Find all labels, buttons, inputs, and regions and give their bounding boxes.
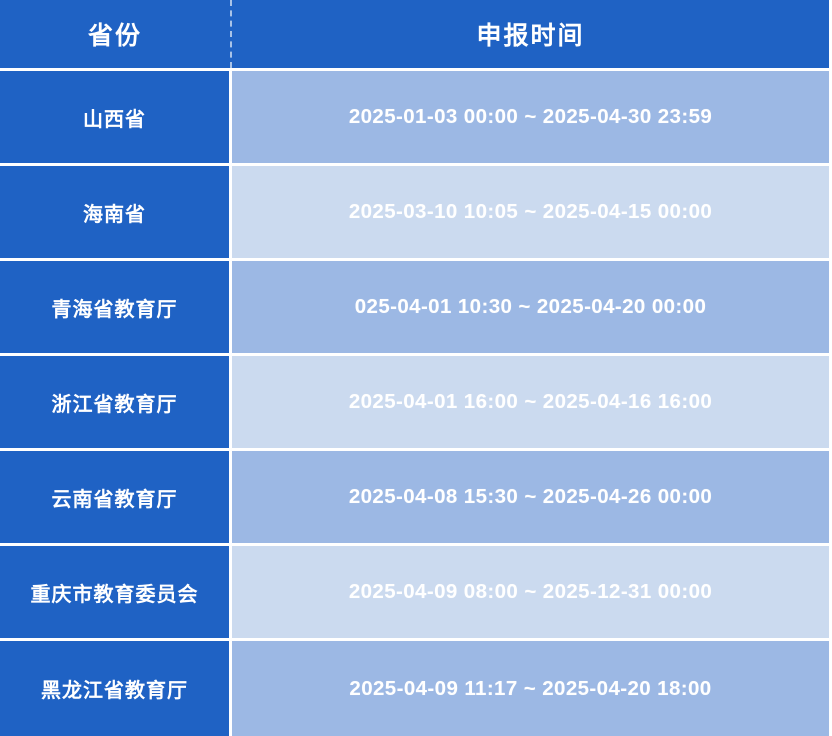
table-row: 山西省 2025-01-03 00:00 ~ 2025-04-30 23:59 <box>0 71 829 166</box>
cell-province: 山西省 <box>0 71 232 166</box>
table-row: 重庆市教育委员会 2025-04-09 08:00 ~ 2025-12-31 0… <box>0 546 829 641</box>
cell-declaration-time: 025-04-01 10:30 ~ 2025-04-20 00:00 <box>232 261 829 356</box>
cell-declaration-time: 2025-04-09 08:00 ~ 2025-12-31 00:00 <box>232 546 829 641</box>
header-row: 省份 申报时间 <box>0 0 829 68</box>
cell-province: 海南省 <box>0 166 232 261</box>
cell-province: 青海省教育厅 <box>0 261 232 356</box>
table-row: 青海省教育厅 025-04-01 10:30 ~ 2025-04-20 00:0… <box>0 261 829 356</box>
cell-province: 重庆市教育委员会 <box>0 546 232 641</box>
declaration-schedule-table: 省份 申报时间 山西省 2025-01-03 00:00 ~ 2025-04-3… <box>0 0 829 736</box>
table-row: 浙江省教育厅 2025-04-01 16:00 ~ 2025-04-16 16:… <box>0 356 829 451</box>
cell-province: 黑龙江省教育厅 <box>0 641 232 736</box>
schedule-table-container: 省份 申报时间 山西省 2025-01-03 00:00 ~ 2025-04-3… <box>0 0 832 734</box>
column-header-province: 省份 <box>0 0 232 68</box>
cell-province: 浙江省教育厅 <box>0 356 232 451</box>
table-row: 云南省教育厅 2025-04-08 15:30 ~ 2025-04-26 00:… <box>0 451 829 546</box>
table-row: 黑龙江省教育厅 2025-04-09 11:17 ~ 2025-04-20 18… <box>0 641 829 736</box>
cell-declaration-time: 2025-04-09 11:17 ~ 2025-04-20 18:00 <box>232 641 829 736</box>
cell-declaration-time: 2025-03-10 10:05 ~ 2025-04-15 00:00 <box>232 166 829 261</box>
cell-declaration-time: 2025-04-08 15:30 ~ 2025-04-26 00:00 <box>232 451 829 546</box>
table-header: 省份 申报时间 <box>0 0 829 71</box>
column-header-declaration-time: 申报时间 <box>232 0 829 68</box>
cell-declaration-time: 2025-01-03 00:00 ~ 2025-04-30 23:59 <box>232 71 829 166</box>
cell-province: 云南省教育厅 <box>0 451 232 546</box>
table-row: 海南省 2025-03-10 10:05 ~ 2025-04-15 00:00 <box>0 166 829 261</box>
cell-declaration-time: 2025-04-01 16:00 ~ 2025-04-16 16:00 <box>232 356 829 451</box>
table-body: 山西省 2025-01-03 00:00 ~ 2025-04-30 23:59 … <box>0 71 829 736</box>
